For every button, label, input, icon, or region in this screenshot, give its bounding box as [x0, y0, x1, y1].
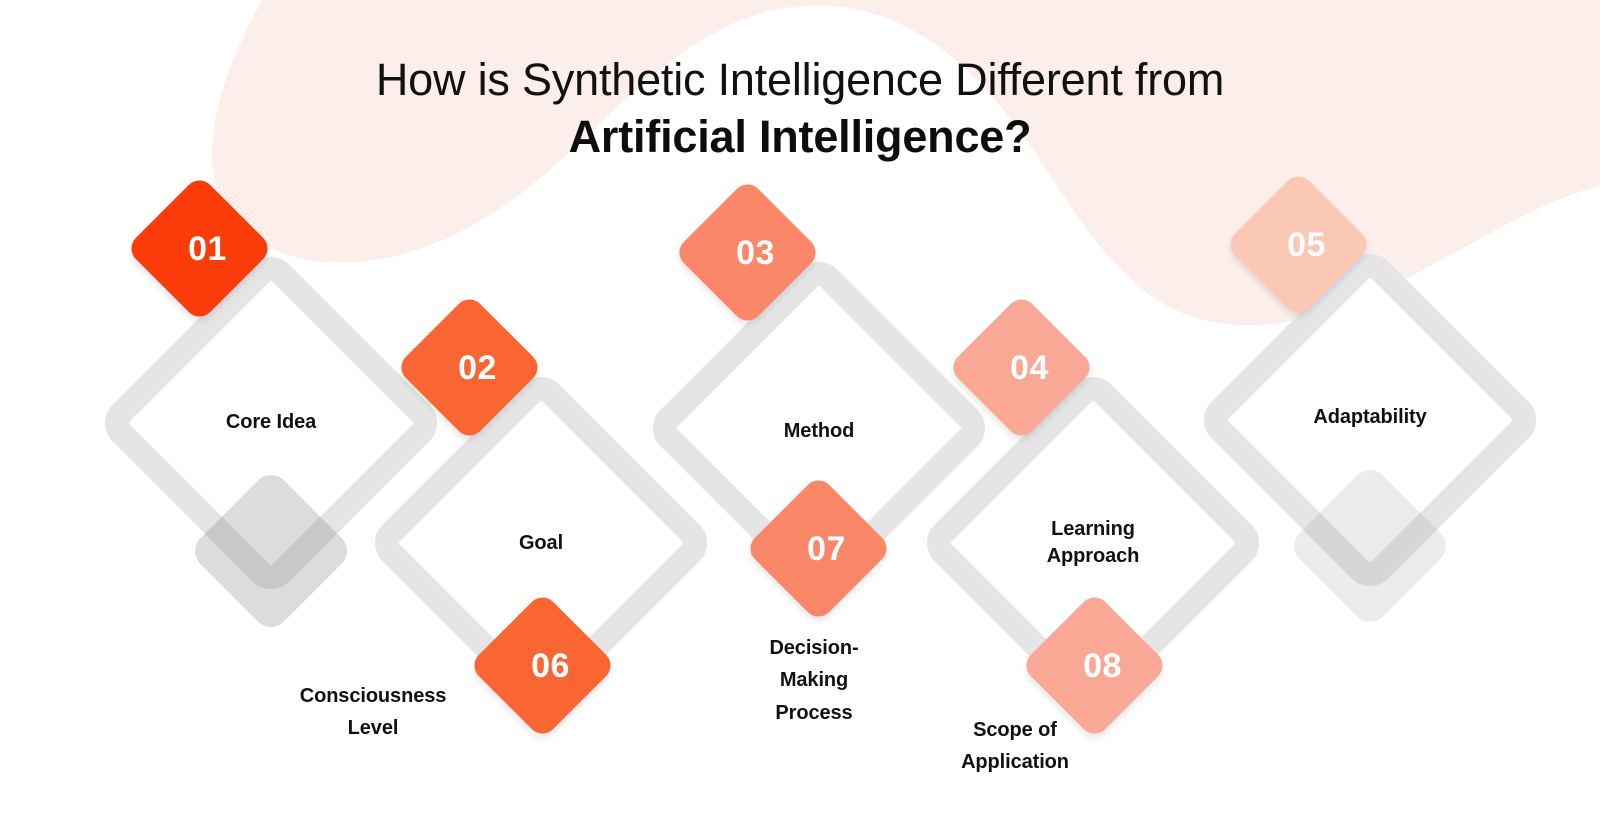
badge-number-text: 05: [1246, 192, 1351, 297]
label-line: Making: [699, 664, 929, 696]
badge-number-text: 01: [147, 196, 252, 301]
label-line: Application: [895, 746, 1135, 778]
number-badge-07[interactable]: 07: [744, 474, 892, 622]
badge-number-text: 02: [417, 315, 522, 420]
infographic-canvas: How is Synthetic Intelligence Different …: [0, 0, 1600, 824]
number-badge-03[interactable]: 03: [673, 178, 821, 326]
number-badge-01[interactable]: 01: [125, 174, 273, 322]
badge-number-text: 04: [969, 315, 1074, 420]
label-line: Scope of: [895, 714, 1135, 746]
number-badge-02[interactable]: 02: [395, 293, 543, 441]
page-title: How is Synthetic Intelligence Different …: [0, 52, 1600, 165]
number-badge-04[interactable]: 04: [947, 293, 1095, 441]
label-line: Level: [253, 712, 493, 744]
badge-number-text: 07: [766, 496, 871, 601]
title-line-1: How is Synthetic Intelligence Different …: [0, 52, 1600, 109]
diamond-label-consciousness-level: Consciousness Level: [253, 680, 493, 745]
badge-number-text: 08: [1042, 613, 1147, 718]
diamond-label-scope-of-application: Scope of Application: [895, 714, 1135, 779]
badge-number-text: 03: [695, 200, 800, 305]
diamond-item-adaptability[interactable]: Adaptability: [1245, 295, 1495, 545]
title-line-2: Artificial Intelligence?: [0, 109, 1600, 166]
badge-number-text: 06: [490, 613, 595, 718]
diamond-item-core-idea[interactable]: Core Idea: [146, 298, 396, 548]
number-badge-05[interactable]: 05: [1224, 170, 1372, 318]
label-line: Decision-: [699, 632, 929, 664]
label-line: Consciousness: [253, 680, 493, 712]
